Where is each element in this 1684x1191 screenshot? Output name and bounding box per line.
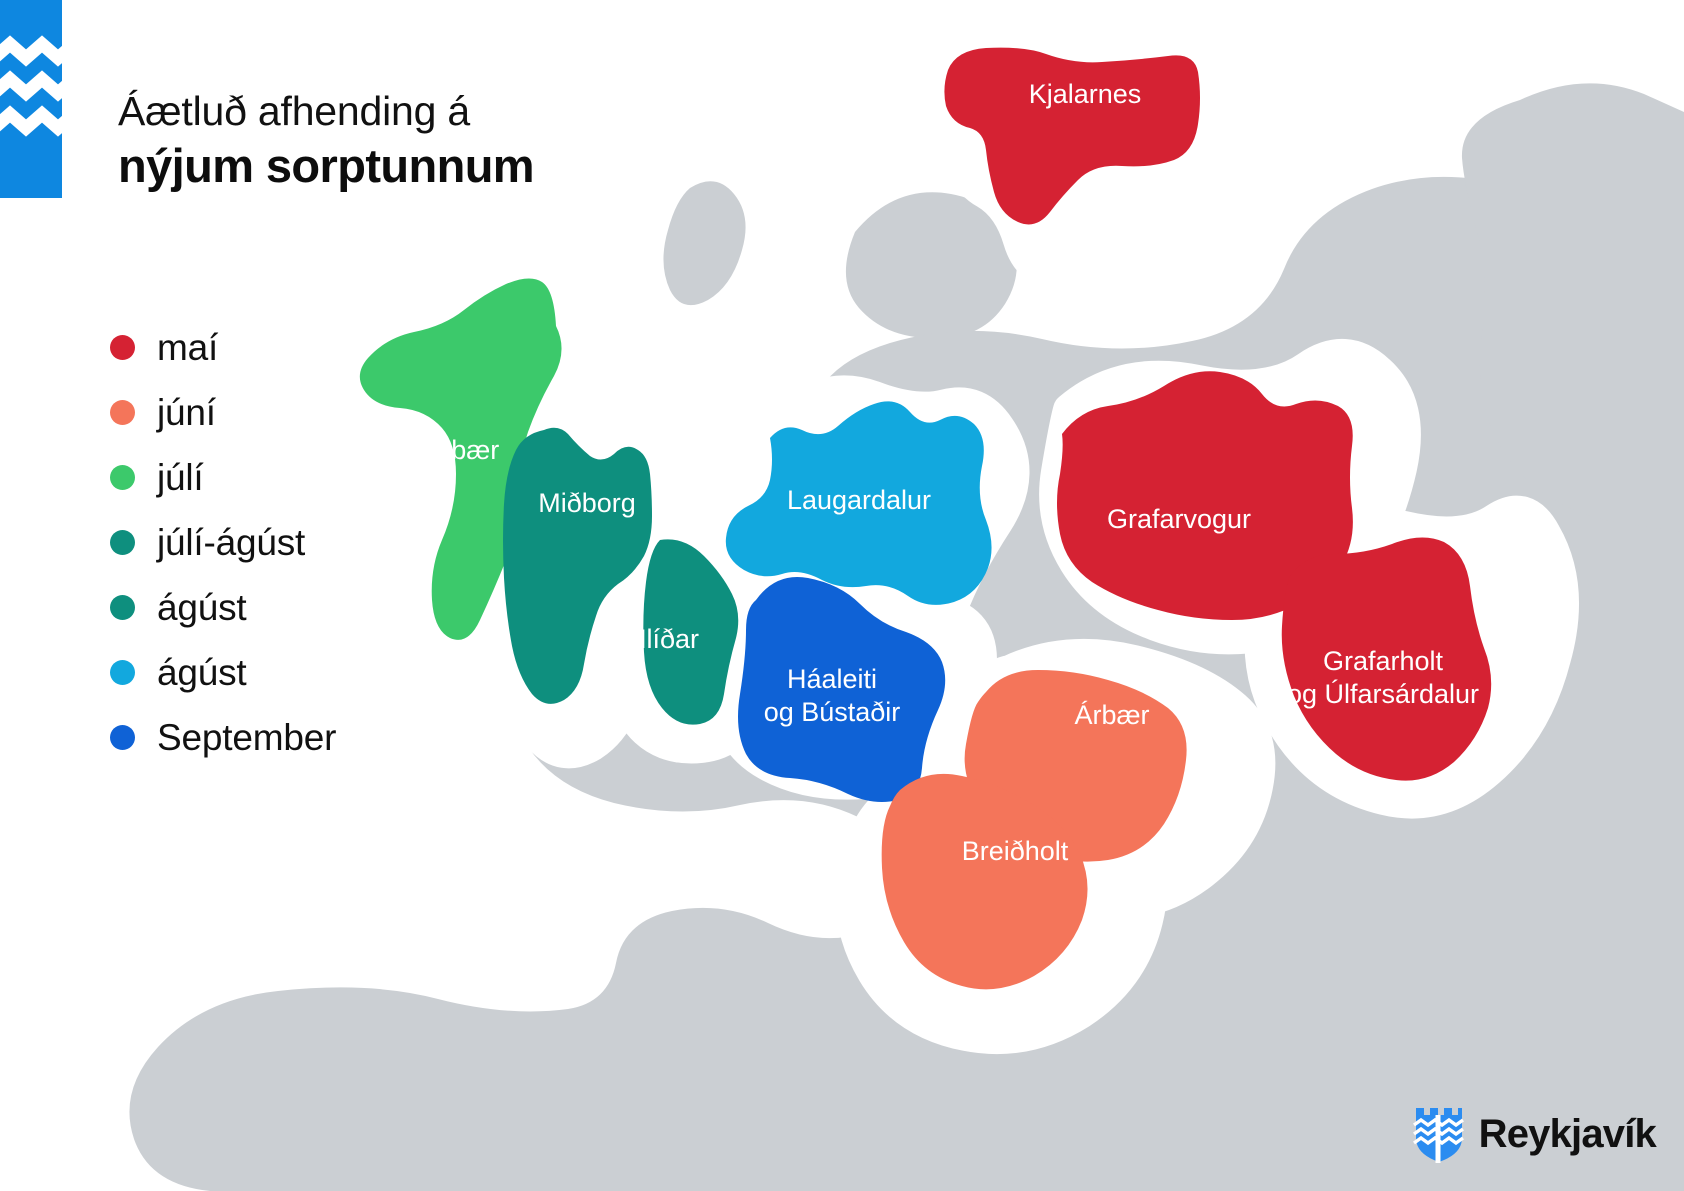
reykjavik-logo: Reykjavík (1413, 1105, 1656, 1163)
district-label-kjalarnes: Kjalarnes (1029, 79, 1142, 109)
legend-label: ágúst (157, 587, 247, 629)
title-line-emphasis: nýjum sorptunnum (118, 139, 534, 193)
legend: maí júní júlí júlí-ágúst ágúst ágúst Sep… (110, 315, 336, 770)
page-title: Áætluð afhending á nýjum sorptunnum (118, 88, 534, 193)
legend-swatch-icon (110, 725, 135, 750)
legend-swatch-icon (110, 335, 135, 360)
legend-item-agust-cyan[interactable]: ágúst (110, 640, 336, 705)
district-label-hlidar: Hlíðar (627, 624, 699, 654)
legend-label: júlí (157, 457, 204, 499)
legend-swatch-icon (110, 400, 135, 425)
district-label-breidholt: Breiðholt (962, 836, 1069, 866)
legend-item-agust-dark[interactable]: ágúst (110, 575, 336, 640)
land-mass-peninsula (663, 181, 745, 305)
district-label-midborg: Miðborg (538, 488, 636, 518)
title-line-primary: Áætluð afhending á (118, 88, 534, 135)
district-label-haaleiti-bustadir-line2: og Bústaðir (764, 697, 901, 727)
legend-item-mai[interactable]: maí (110, 315, 336, 380)
legend-label: September (157, 717, 336, 759)
legend-label: júní (157, 392, 216, 434)
legend-swatch-icon (110, 530, 135, 555)
legend-swatch-icon (110, 465, 135, 490)
district-label-vesturbaer: Vesturbær (375, 435, 500, 465)
legend-label: júlí-ágúst (157, 522, 305, 564)
legend-item-juni[interactable]: júní (110, 380, 336, 445)
district-label-haaleiti-bustadir-line1: Háaleiti (787, 664, 877, 694)
legend-swatch-icon (110, 660, 135, 685)
legend-label: maí (157, 327, 218, 369)
reykjavik-logo-text: Reykjavík (1479, 1112, 1656, 1157)
legend-item-juli[interactable]: júlí (110, 445, 336, 510)
district-label-laugardalur: Laugardalur (787, 485, 931, 515)
district-label-grafarholt-line2: og Úlfarsárdalur (1287, 678, 1479, 709)
reykjavik-shield-icon (1413, 1105, 1465, 1163)
district-label-grafarvogur: Grafarvogur (1107, 504, 1251, 534)
legend-label: ágúst (157, 652, 247, 694)
legend-item-september[interactable]: September (110, 705, 336, 770)
legend-swatch-icon (110, 595, 135, 620)
legend-item-juli-agust[interactable]: júlí-ágúst (110, 510, 336, 575)
district-label-grafarholt-line1: Grafarholt (1323, 646, 1444, 676)
district-label-arbaer: Árbær (1074, 700, 1149, 730)
